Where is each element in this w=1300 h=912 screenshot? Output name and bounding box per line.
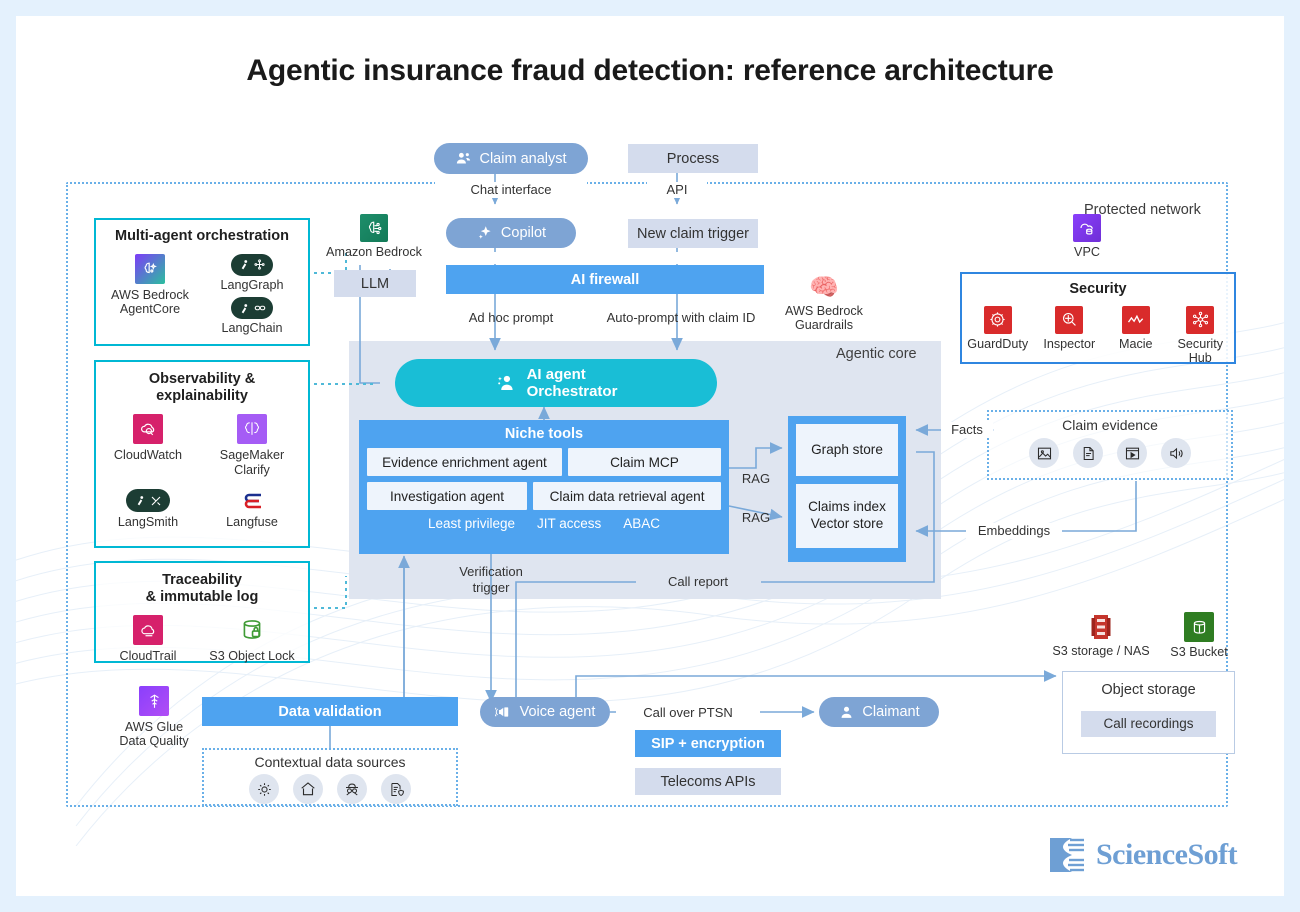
data-validation-node[interactable]: Data validation [202,697,458,726]
call-over-ptsn-label: Call over PTSN [616,705,760,721]
verification-trigger-label: Verification trigger [448,564,534,595]
sip-encryption-node[interactable]: SIP + encryption [635,730,781,757]
claims-index-vector-store-node[interactable]: Claims index Vector store [796,484,898,548]
chip-abac: ABAC [623,516,660,531]
langsmith-label: LangSmith [96,515,200,529]
vector-store-label: Vector store [811,516,884,533]
sagemaker-clarify-label: SageMaker Clarify [200,448,304,477]
traceability-title: Traceability & immutable log [96,572,308,605]
security-hub-icon [1186,306,1214,334]
guardduty-icon [984,306,1012,334]
cloudtrail-icon [133,615,163,645]
chat-interface-label: Chat interface [435,182,587,198]
ai-agent-orchestrator-node[interactable]: AI agent Orchestrator [395,359,717,407]
langchain-icon [231,297,273,319]
embeddings-label: Embeddings [966,523,1062,539]
service-langgraph: LangGraph [198,254,306,292]
data-validation-label: Data validation [278,704,381,720]
bedrock-guardrails-label: AWS Bedrock Guardrails [778,304,870,333]
macie-label: Macie [1110,337,1162,351]
multi-agent-title: Multi-agent orchestration [96,228,308,245]
inspector-icon [1055,306,1083,334]
amazon-bedrock-icon [360,214,388,242]
process-node[interactable]: Process [628,144,758,173]
ad-hoc-prompt-label: Ad hoc prompt [436,310,586,326]
auto-prompt-label: Auto-prompt with claim ID [586,310,776,326]
amazon-bedrock-label: Amazon Bedrock [322,245,426,259]
service-langfuse: Langfuse [200,489,304,529]
security-panel: Security GuardDuty Inspector Macie [960,272,1236,364]
service-s3-storage-nas: S3 storage / NAS [1049,612,1153,658]
copilot-label: Copilot [501,225,546,241]
langfuse-label: Langfuse [200,515,304,529]
langgraph-icon [231,254,273,276]
call-recordings-node[interactable]: Call recordings [1081,711,1216,737]
graph-store-label: Graph store [811,442,883,459]
aws-bedrock-agentcore-icon [135,254,165,284]
service-sagemaker-clarify: SageMaker Clarify [200,414,304,477]
service-cloudwatch: CloudWatch [96,414,200,477]
new-claim-trigger-label: New claim trigger [637,226,749,242]
chip-jit-access: JIT access [537,516,601,531]
fraud-icon [337,774,367,804]
service-s3-object-lock: S3 Object Lock [200,615,304,663]
langchain-label: LangChain [198,321,306,335]
contextual-data-sources-title: Contextual data sources [204,754,456,770]
aws-glue-data-quality-icon [139,686,169,716]
claims-index-label: Claims index [808,499,886,516]
service-security-hub: Security Hub [1171,306,1229,366]
security-title: Security [962,281,1234,298]
service-s3-bucket: S3 Bucket [1161,612,1237,659]
amazon-bedrock-service: Amazon Bedrock [322,214,426,259]
niche-tools-panel: Niche tools Evidence enrichment agent Cl… [359,420,729,554]
tool-claim-data-retrieval-agent[interactable]: Claim data retrieval agent [533,482,721,510]
aws-bedrock-agentcore-label: AWS Bedrock AgentCore [102,288,198,317]
rag-label-2: RAG [734,510,778,526]
claim-analyst-label: Claim analyst [479,151,566,167]
contextual-data-sources-panel: Contextual data sources [202,748,458,806]
claim-analyst-node[interactable]: Claim analyst [434,143,588,174]
observability-title: Observability & explainability [96,371,308,404]
inspector-label: Inspector [1038,337,1100,351]
service-inspector: Inspector [1038,306,1100,366]
cloudtrail-label: CloudTrail [96,649,200,663]
object-storage-panel: Object storage Call recordings [1062,671,1235,754]
video-icon [1117,438,1147,468]
verification-trigger-line2: trigger [448,580,534,596]
property-icon [293,774,323,804]
audio-icon [1161,438,1191,468]
langfuse-icon [200,489,304,512]
voice-icon [495,703,513,721]
verified-document-icon [381,774,411,804]
orchestrator-line1: AI agent [527,366,618,383]
service-langchain: LangChain [198,297,306,335]
service-cloudtrail: CloudTrail [96,615,200,663]
service-macie: Macie [1110,306,1162,366]
process-label: Process [667,151,719,167]
langsmith-icon [126,489,170,512]
s3-bucket-icon [1184,612,1214,642]
sip-encryption-label: SIP + encryption [651,736,765,752]
traceability-panel: Traceability & immutable log CloudTrail … [94,561,310,663]
new-claim-trigger-node[interactable]: New claim trigger [628,219,758,248]
weather-icon [249,774,279,804]
security-hub-label: Security Hub [1171,337,1229,366]
llm-label: LLM [361,276,389,292]
tool-evidence-enrichment-agent[interactable]: Evidence enrichment agent [367,448,562,476]
bedrock-guardrails-service: 🧠 AWS Bedrock Guardrails [778,274,870,333]
rag-label-1: RAG [734,471,778,487]
s3-storage-nas-icon [1049,612,1153,642]
object-storage-title: Object storage [1063,682,1234,699]
sagemaker-clarify-icon [237,414,267,444]
tool-claim-mcp[interactable]: Claim MCP [568,448,721,476]
claim-evidence-title: Claim evidence [989,417,1231,433]
verification-trigger-line1: Verification [448,564,534,580]
voice-agent-label: Voice agent [520,704,596,720]
data-stores-group: Graph store Claims index Vector store [788,416,906,562]
service-langsmith: LangSmith [96,489,200,529]
observability-panel: Observability & explainability CloudWatc… [94,360,310,548]
facts-label: Facts [941,422,993,438]
claimant-label: Claimant [862,704,919,720]
guardduty-label: GuardDuty [967,337,1029,351]
agent-icon [495,372,517,394]
call-report-label: Call report [646,574,750,590]
claim-evidence-panel: Claim evidence [987,410,1233,480]
sciencesoft-logo-text: ScienceSoft [1096,838,1237,872]
sparkle-icon [476,224,494,242]
niche-tools-title: Niche tools [359,426,729,442]
macie-icon [1122,306,1150,334]
service-aws-bedrock-agentcore: AWS Bedrock AgentCore [102,254,198,336]
multi-agent-orchestration-panel: Multi-agent orchestration AWS Bedrock Ag… [94,218,310,346]
s3-object-lock-icon [237,615,267,645]
chip-least-privilege: Least privilege [428,516,515,531]
orchestrator-line2: Orchestrator [527,383,618,400]
graph-store-node[interactable]: Graph store [796,424,898,476]
cloudwatch-label: CloudWatch [96,448,200,462]
users-icon [455,150,472,167]
s3-bucket-label: S3 Bucket [1161,645,1237,659]
api-label: API [647,182,707,198]
user-icon [838,704,855,721]
s3-object-lock-label: S3 Object Lock [200,649,304,663]
service-guardduty: GuardDuty [967,306,1029,366]
llm-node[interactable]: LLM [334,270,416,297]
copilot-node[interactable]: Copilot [446,218,576,248]
tool-investigation-agent[interactable]: Investigation agent [367,482,527,510]
langgraph-label: LangGraph [198,278,306,292]
ai-firewall-node[interactable]: AI firewall [446,265,764,294]
aws-glue-data-quality-label: AWS Glue Data Quality [114,720,194,749]
document-icon [1073,438,1103,468]
niche-tools-chips: Least privilege JIT access ABAC [359,516,729,531]
call-recordings-label: Call recordings [1103,716,1193,731]
telecoms-apis-node[interactable]: Telecoms APIs [635,768,781,795]
voice-agent-node[interactable]: Voice agent [480,697,610,727]
sciencesoft-logo-icon [1046,834,1088,876]
sciencesoft-logo: ScienceSoft [1046,834,1237,876]
cloudwatch-icon [133,414,163,444]
claimant-node[interactable]: Claimant [819,697,939,727]
bedrock-guardrails-icon: 🧠 [778,274,870,302]
image-icon [1029,438,1059,468]
ai-firewall-label: AI firewall [571,272,640,288]
service-aws-glue-data-quality: AWS Glue Data Quality [114,686,194,749]
telecoms-apis-label: Telecoms APIs [660,774,755,790]
s3-storage-nas-label: S3 storage / NAS [1049,644,1153,658]
diagram-card: Agentic insurance fraud detection: refer… [16,16,1284,896]
